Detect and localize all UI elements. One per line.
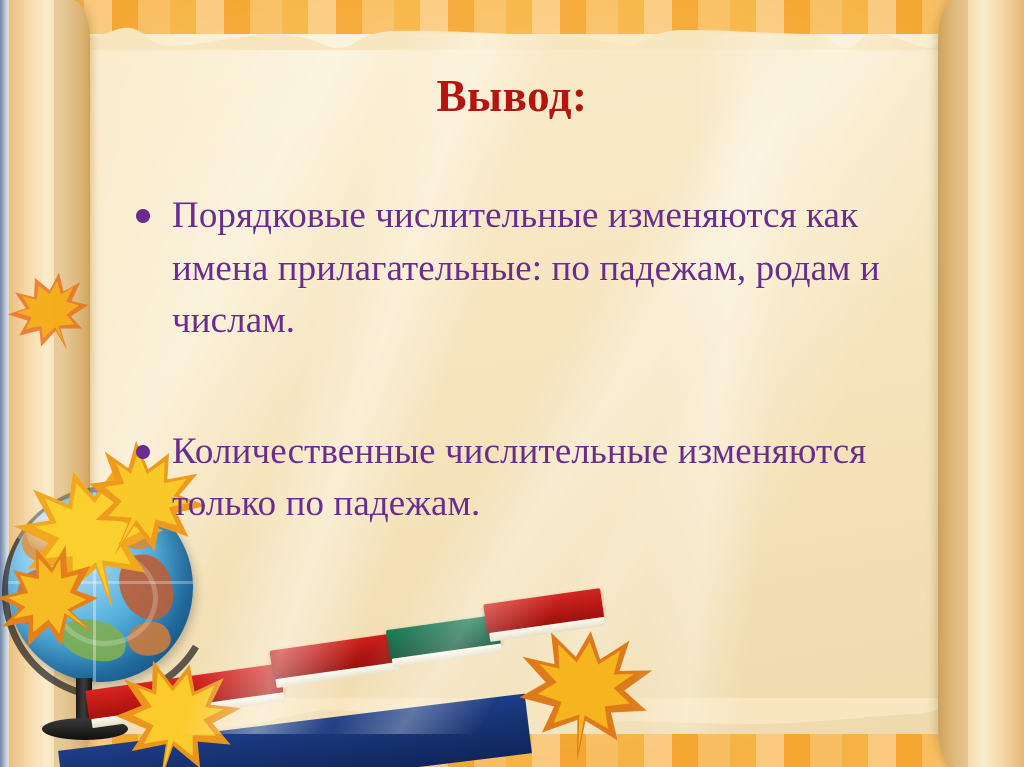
maple-leaf-center-bottom-icon (509, 621, 658, 767)
bullet-dot-icon (136, 209, 150, 223)
list-item-text: Количественные числительные изменяются т… (172, 426, 916, 531)
list-item-text: Порядковые числительные изменяются как и… (172, 190, 916, 348)
page-title: Вывод: (74, 70, 950, 122)
bullet-dot-icon (136, 445, 150, 459)
bullet-list: Порядковые числительные изменяются как и… (136, 190, 916, 531)
presentation-slide: Вывод: Порядковые числительные изменяютс… (0, 0, 1024, 767)
list-item: Порядковые числительные изменяются как и… (136, 190, 916, 348)
parchment-torn-top-edge (74, 16, 950, 50)
list-item: Количественные числительные изменяются т… (136, 426, 916, 531)
